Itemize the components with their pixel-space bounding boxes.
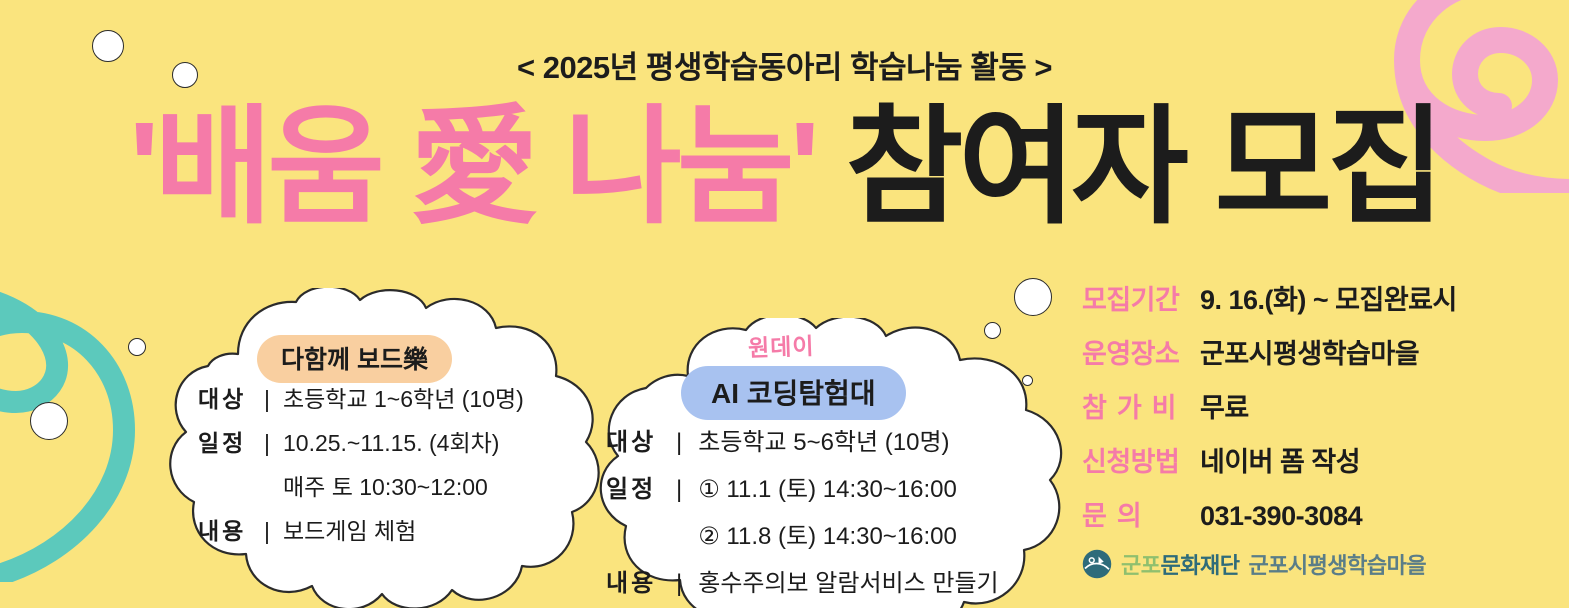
logo-name: 군포문화재단 bbox=[1121, 548, 1239, 580]
detail-value: ② 11.8 (토) 14:30~16:00 bbox=[698, 516, 957, 551]
poster-canvas: < 2025년 평생학습동아리 학습나눔 활동 > '배움 愛 나눔' 참여자 … bbox=[0, 0, 1569, 608]
info-value: 031-390-3084 bbox=[1200, 501, 1362, 532]
logo-name-dark: 문화재단 bbox=[1160, 553, 1239, 578]
program-detail-rows: 대상 | 초등학교 1~6학년 (10명) 일정 | 10.25.~11.15.… bbox=[198, 380, 524, 556]
info-row-fee: 참가비 무료 bbox=[1082, 386, 1457, 425]
program-card-board-game: 다함께 보드樂 대상 | 초등학교 1~6학년 (10명) 일정 | 10.25… bbox=[150, 288, 620, 608]
detail-key: 대상 bbox=[198, 380, 260, 414]
info-key: 참가비 bbox=[1082, 386, 1200, 425]
detail-value: 보드게임 체험 bbox=[283, 512, 416, 546]
poster-title-dark: 참여자 모집 bbox=[846, 96, 1440, 239]
detail-value: 매주 토 10:30~12:00 bbox=[283, 468, 488, 502]
detail-row: 일정 | 매주 토 10:30~12:00 bbox=[198, 468, 524, 502]
detail-key: 내용 bbox=[606, 563, 670, 598]
info-key: 문의 bbox=[1082, 494, 1200, 533]
detail-row: 내용 | 보드게임 체험 bbox=[198, 512, 524, 546]
detail-separator: | bbox=[260, 386, 283, 413]
poster-title: '배움 愛 나눔' 참여자 모집 bbox=[0, 88, 1569, 248]
poster-subtitle: < 2025년 평생학습동아리 학습나눔 활동 > bbox=[0, 42, 1569, 87]
info-row-contact: 문의 031-390-3084 bbox=[1082, 494, 1457, 533]
detail-key: 일정 bbox=[198, 424, 260, 458]
detail-row: 대상 | 초등학교 1~6학년 (10명) bbox=[198, 380, 524, 414]
info-value: 군포시평생학습마을 bbox=[1200, 332, 1419, 371]
detail-separator: | bbox=[670, 476, 698, 504]
detail-separator: | bbox=[670, 429, 698, 457]
info-key: 모집기간 bbox=[1082, 278, 1200, 317]
logo-subname: 군포시평생학습마을 bbox=[1248, 548, 1426, 580]
detail-key: 일정 bbox=[606, 469, 670, 504]
info-key: 신청방법 bbox=[1082, 440, 1200, 479]
program-card-ai-coding: 원데이 AI 코딩탐험대 대상 | 초등학교 5~6학년 (10명) 일정 | … bbox=[568, 318, 1088, 608]
logo-name-green: 군포 bbox=[1121, 553, 1160, 578]
detail-value: ① 11.1 (토) 14:30~16:00 bbox=[698, 469, 957, 504]
detail-value: 초등학교 5~6학년 (10명) bbox=[698, 422, 949, 457]
circle-decoration bbox=[128, 338, 146, 356]
detail-separator: | bbox=[260, 430, 283, 457]
program-badge: AI 코딩탐험대 bbox=[681, 366, 906, 420]
info-value: 무료 bbox=[1200, 386, 1249, 425]
detail-row: 내용 | 홍수주의보 알람서비스 만들기 bbox=[606, 563, 999, 598]
circle-decoration bbox=[30, 402, 68, 440]
circle-decoration bbox=[1014, 278, 1052, 316]
gunpo-foundation-circle-icon bbox=[1082, 549, 1112, 579]
info-row-application: 신청방법 네이버 폼 작성 bbox=[1082, 440, 1457, 479]
program-detail-rows: 대상 | 초등학교 5~6학년 (10명) 일정 | ① 11.1 (토) 14… bbox=[606, 422, 999, 608]
detail-key: 내용 bbox=[198, 512, 260, 546]
info-value: 네이버 폼 작성 bbox=[1200, 440, 1360, 479]
detail-separator: | bbox=[670, 570, 698, 598]
program-tag: 원데이 bbox=[747, 327, 815, 363]
detail-row: 일정 | 10.25.~11.15. (4회차) bbox=[198, 424, 524, 458]
info-value: 9. 16.(화) ~ 모집완료시 bbox=[1200, 278, 1457, 317]
poster-title-pink: '배움 愛 나눔' bbox=[129, 96, 815, 239]
program-badge: 다함께 보드樂 bbox=[257, 335, 452, 383]
recruitment-info-panel: 모집기간 9. 16.(화) ~ 모집완료시 운영장소 군포시평생학습마을 참가… bbox=[1082, 278, 1457, 548]
detail-value: 초등학교 1~6학년 (10명) bbox=[283, 380, 524, 414]
info-key: 운영장소 bbox=[1082, 332, 1200, 371]
detail-key: 대상 bbox=[606, 422, 670, 457]
detail-row: 일정 | ① 11.1 (토) 14:30~16:00 bbox=[606, 469, 999, 504]
organization-logo: 군포문화재단 군포시평생학습마을 bbox=[1082, 548, 1426, 580]
detail-row: 대상 | 초등학교 5~6학년 (10명) bbox=[606, 422, 999, 457]
detail-value: 10.25.~11.15. (4회차) bbox=[283, 424, 499, 458]
info-row-location: 운영장소 군포시평생학습마을 bbox=[1082, 332, 1457, 371]
detail-row: 일정 | ② 11.8 (토) 14:30~16:00 bbox=[606, 516, 999, 551]
info-row-period: 모집기간 9. 16.(화) ~ 모집완료시 bbox=[1082, 278, 1457, 317]
detail-separator: | bbox=[260, 518, 283, 545]
detail-value: 홍수주의보 알람서비스 만들기 bbox=[698, 563, 998, 598]
